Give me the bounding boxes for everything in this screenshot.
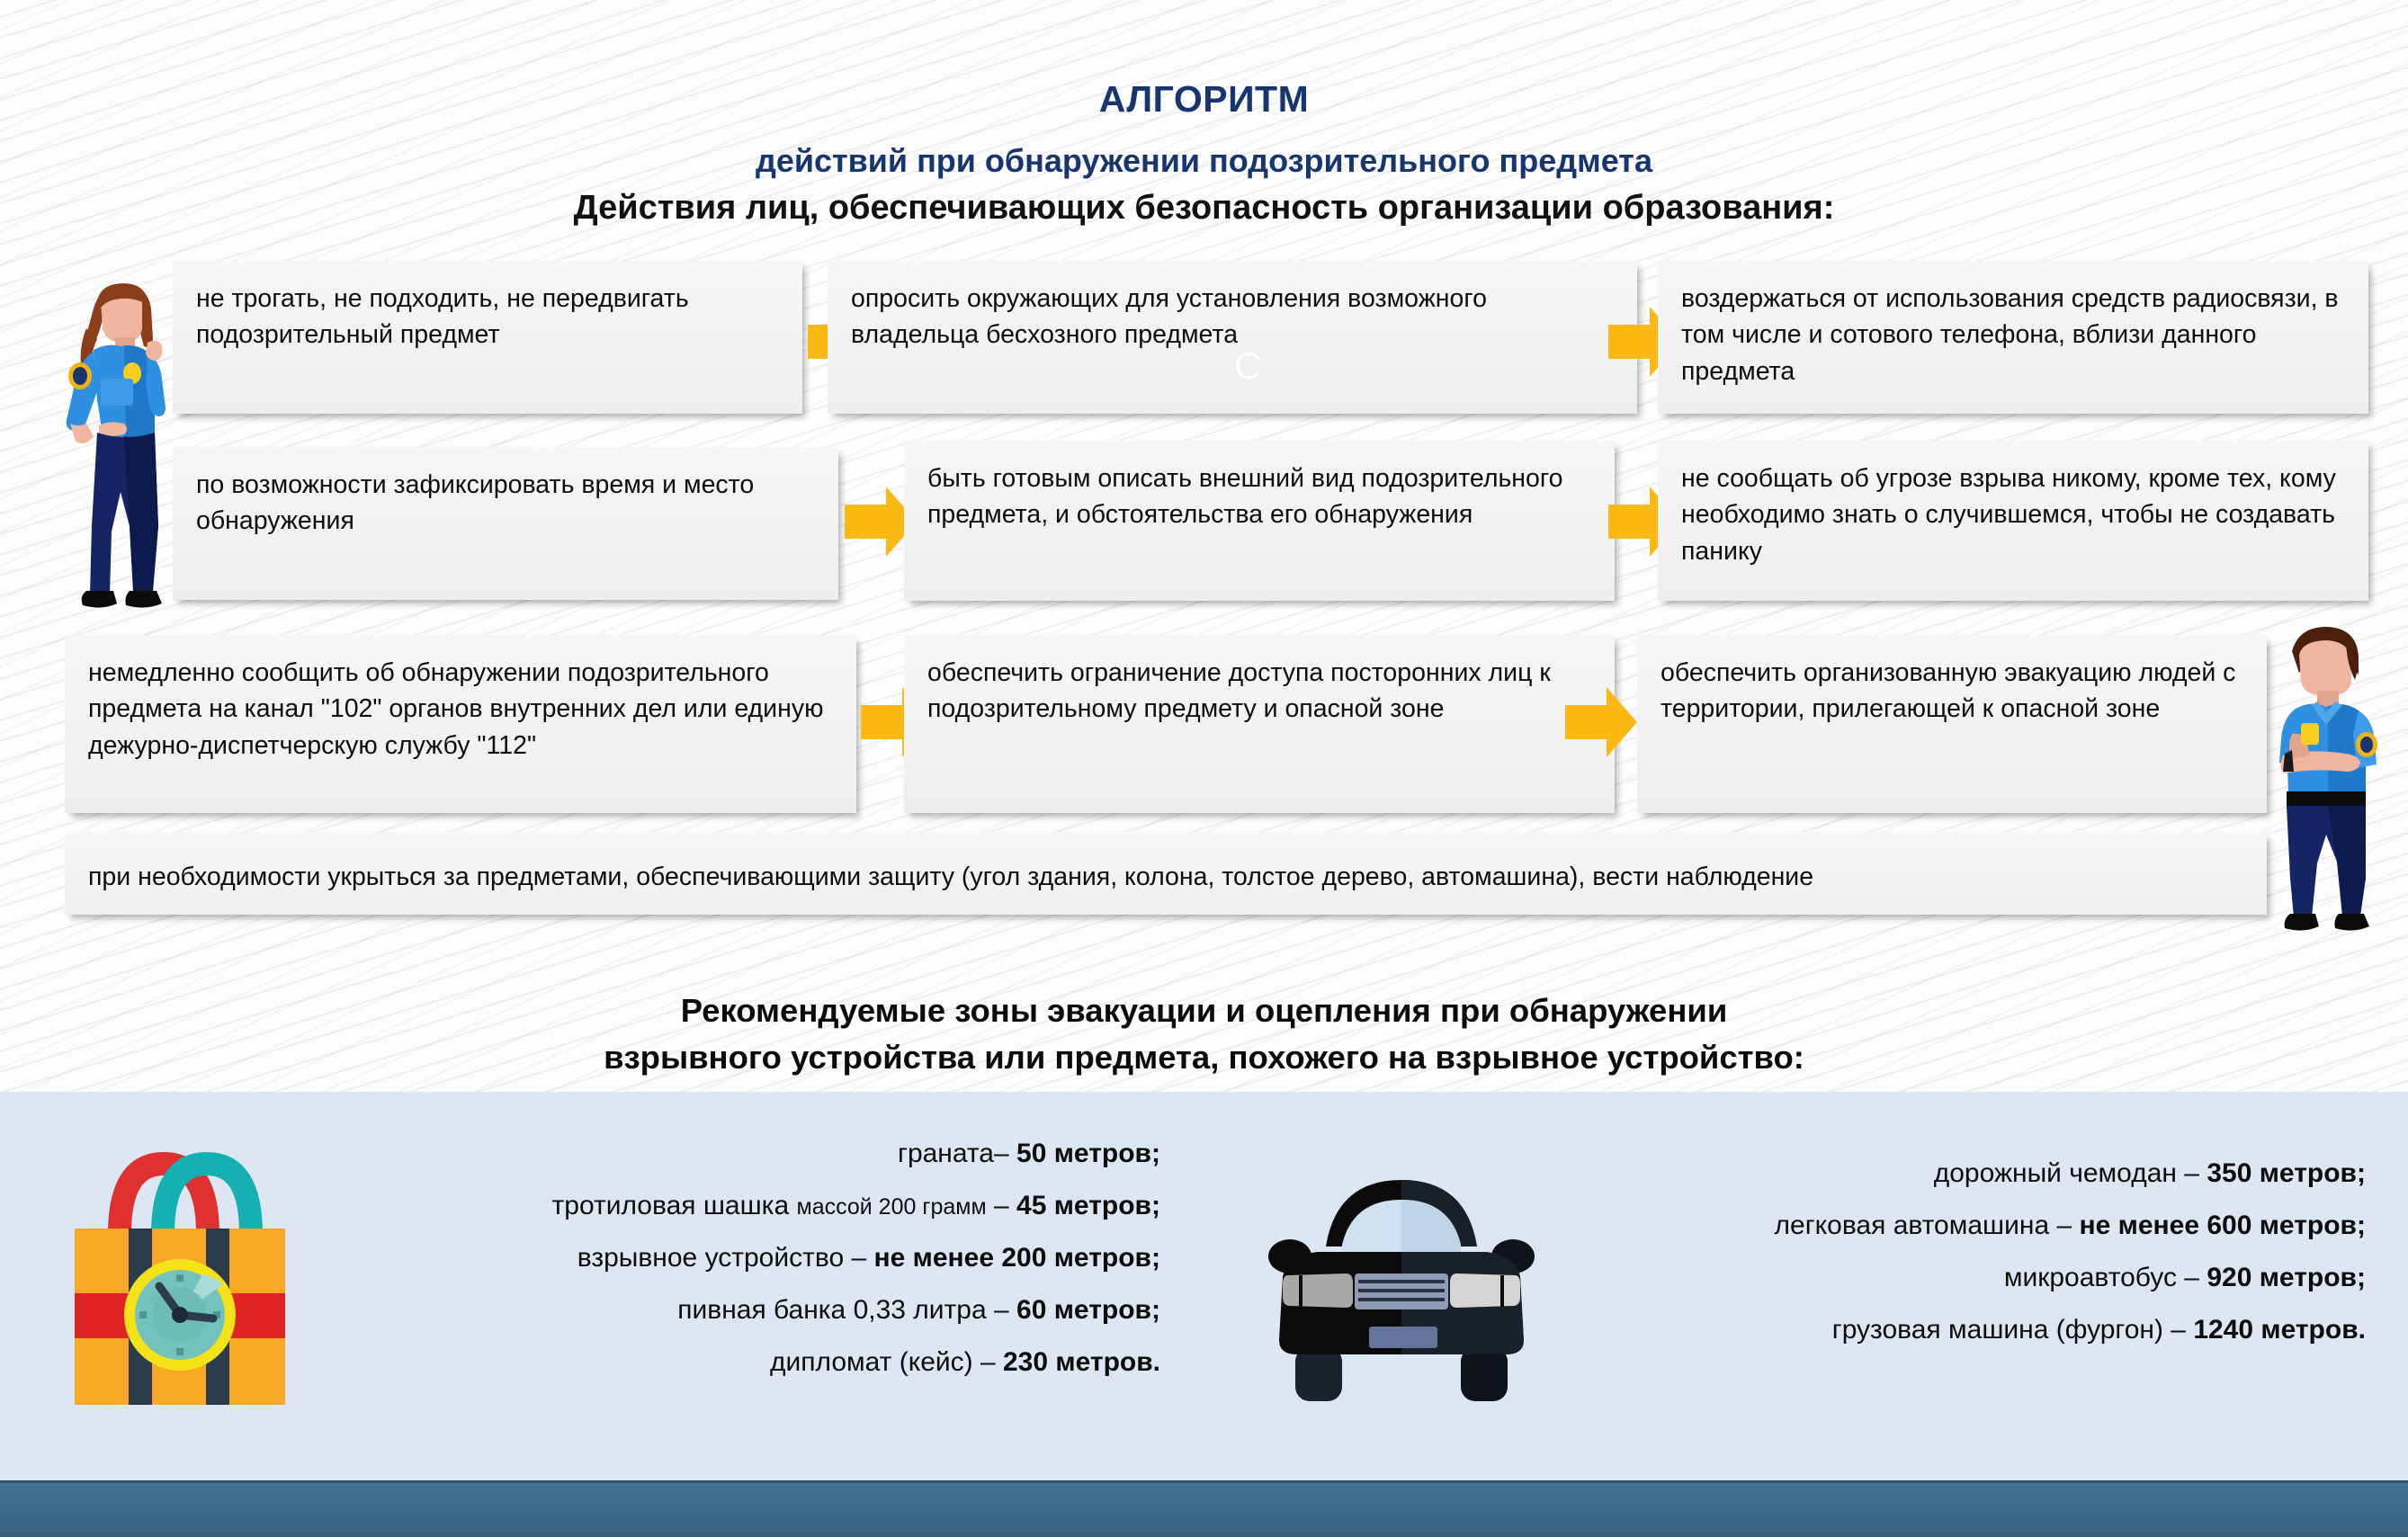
step-box-6: не сообщать об угрозе взрыва никому, кро… xyxy=(1658,441,2368,601)
zone-label: пивная банка 0,33 литра – xyxy=(677,1295,1008,1325)
zone-row: дорожный чемодан – 350 метров; xyxy=(1520,1160,2366,1187)
male-security-guard xyxy=(2260,619,2395,935)
step-text: обеспечить ограничение доступа посторонн… xyxy=(927,658,1551,723)
zone-note: массой 200 грамм xyxy=(797,1194,987,1220)
zones-list-left: граната– 50 метров; тротиловая шашка мас… xyxy=(252,1140,1160,1376)
step-box-4: по возможности зафиксировать время и мес… xyxy=(173,447,838,600)
page-title: АЛГОРИТМ xyxy=(0,79,2408,120)
step-text: не сообщать об угрозе взрыва никому, кро… xyxy=(1681,464,2336,566)
step-text: не трогать, не подходить, не передвигать… xyxy=(196,284,689,349)
step-box-7: немедленно сообщить об обнаружении подоз… xyxy=(65,635,856,813)
zone-label: тротиловая шашка xyxy=(552,1191,790,1220)
black-car-front-icon xyxy=(1267,1160,1536,1412)
step-box-5: быть готовым описать внешний вид подозри… xyxy=(904,441,1615,601)
zone-row: грузовая машина (фургон) – 1240 метров. xyxy=(1520,1317,2366,1344)
section-title: Действия лиц, обеспечивающих безопасност… xyxy=(0,190,2408,228)
zone-row: пивная банка 0,33 литра – 60 метров; xyxy=(252,1297,1160,1324)
zone-dash: – xyxy=(994,1191,1009,1220)
step-text: по возможности зафиксировать время и мес… xyxy=(196,470,754,535)
step-box-1: не трогать, не подходить, не передвигать… xyxy=(173,261,802,414)
zone-value: 920 метров; xyxy=(2207,1263,2366,1292)
header-block: АЛГОРИТМ действий при обнаружении подозр… xyxy=(0,79,2408,227)
zones-list-right: дорожный чемодан – 350 метров; легковая … xyxy=(1520,1160,2366,1344)
step-box-3: воздержаться от использования средств ра… xyxy=(1658,261,2368,414)
zone-row: тротиловая шашка массой 200 грамм – 45 м… xyxy=(252,1193,1160,1220)
step-text: воздержаться от использования средств ра… xyxy=(1681,284,2339,386)
zone-label: легковая автомашина – xyxy=(1775,1211,2072,1240)
zone-value: не менее 600 метров; xyxy=(2080,1211,2367,1240)
zone-label: граната– xyxy=(898,1139,1009,1168)
step-text: при необходимости укрыться за предметами… xyxy=(88,862,1813,891)
zones-heading-line1: Рекомендуемые зоны эвакуации и оцепления… xyxy=(0,987,2408,1034)
step-text: быть готовым описать внешний вид подозри… xyxy=(927,464,1563,529)
zone-label: микроавтобус – xyxy=(2004,1263,2199,1292)
flow-arrow-6 xyxy=(1563,684,1639,761)
zones-heading-line2: взрывного устройства или предмета, похож… xyxy=(0,1034,2408,1081)
step-text: опросить окружающих для установления воз… xyxy=(851,284,1487,349)
infographic-slide: АЛГОРИТМ действий при обнаружении подозр… xyxy=(0,0,2408,1537)
zone-value: 230 метров. xyxy=(1003,1347,1160,1377)
zone-label: дипломат (кейс) – xyxy=(770,1347,996,1377)
zone-label: грузовая машина (фургон) – xyxy=(1832,1315,2186,1345)
footer-bar xyxy=(0,1480,2408,1537)
step-box-10: при необходимости укрыться за предметами… xyxy=(65,832,2267,915)
zone-row: легковая автомашина – не менее 600 метро… xyxy=(1520,1212,2366,1239)
zone-value: 350 метров; xyxy=(2207,1158,2366,1188)
zone-value: не менее 200 метров; xyxy=(874,1243,1161,1273)
zone-row: граната– 50 метров; xyxy=(252,1140,1160,1167)
step-box-9: обеспечить организованную эвакуацию люде… xyxy=(1637,635,2267,813)
zone-value: 50 метров; xyxy=(1016,1139,1160,1168)
zone-value: 1240 метров. xyxy=(2193,1315,2366,1345)
zones-heading: Рекомендуемые зоны эвакуации и оцепления… xyxy=(0,987,2408,1081)
step-text: обеспечить организованную эвакуацию люде… xyxy=(1661,658,2235,723)
zone-row: дипломат (кейс) – 230 метров. xyxy=(252,1349,1160,1376)
female-security-guard xyxy=(47,256,191,616)
zone-label: дорожный чемодан – xyxy=(1934,1158,2199,1188)
zone-label: взрывное устройство – xyxy=(577,1243,866,1273)
step-text: немедленно сообщить об обнаружении подоз… xyxy=(88,658,823,760)
zone-row: микроавтобус – 920 метров; xyxy=(1520,1264,2366,1291)
step-box-2: опросить окружающих для установления воз… xyxy=(828,261,1637,414)
zone-value: 60 метров; xyxy=(1016,1295,1160,1325)
zone-value: 45 метров; xyxy=(1016,1191,1160,1220)
zone-row: взрывное устройство – не менее 200 метро… xyxy=(252,1245,1160,1272)
step-box-8: обеспечить ограничение доступа посторонн… xyxy=(904,635,1615,813)
page-subtitle: действий при обнаружении подозрительного… xyxy=(0,143,2408,179)
